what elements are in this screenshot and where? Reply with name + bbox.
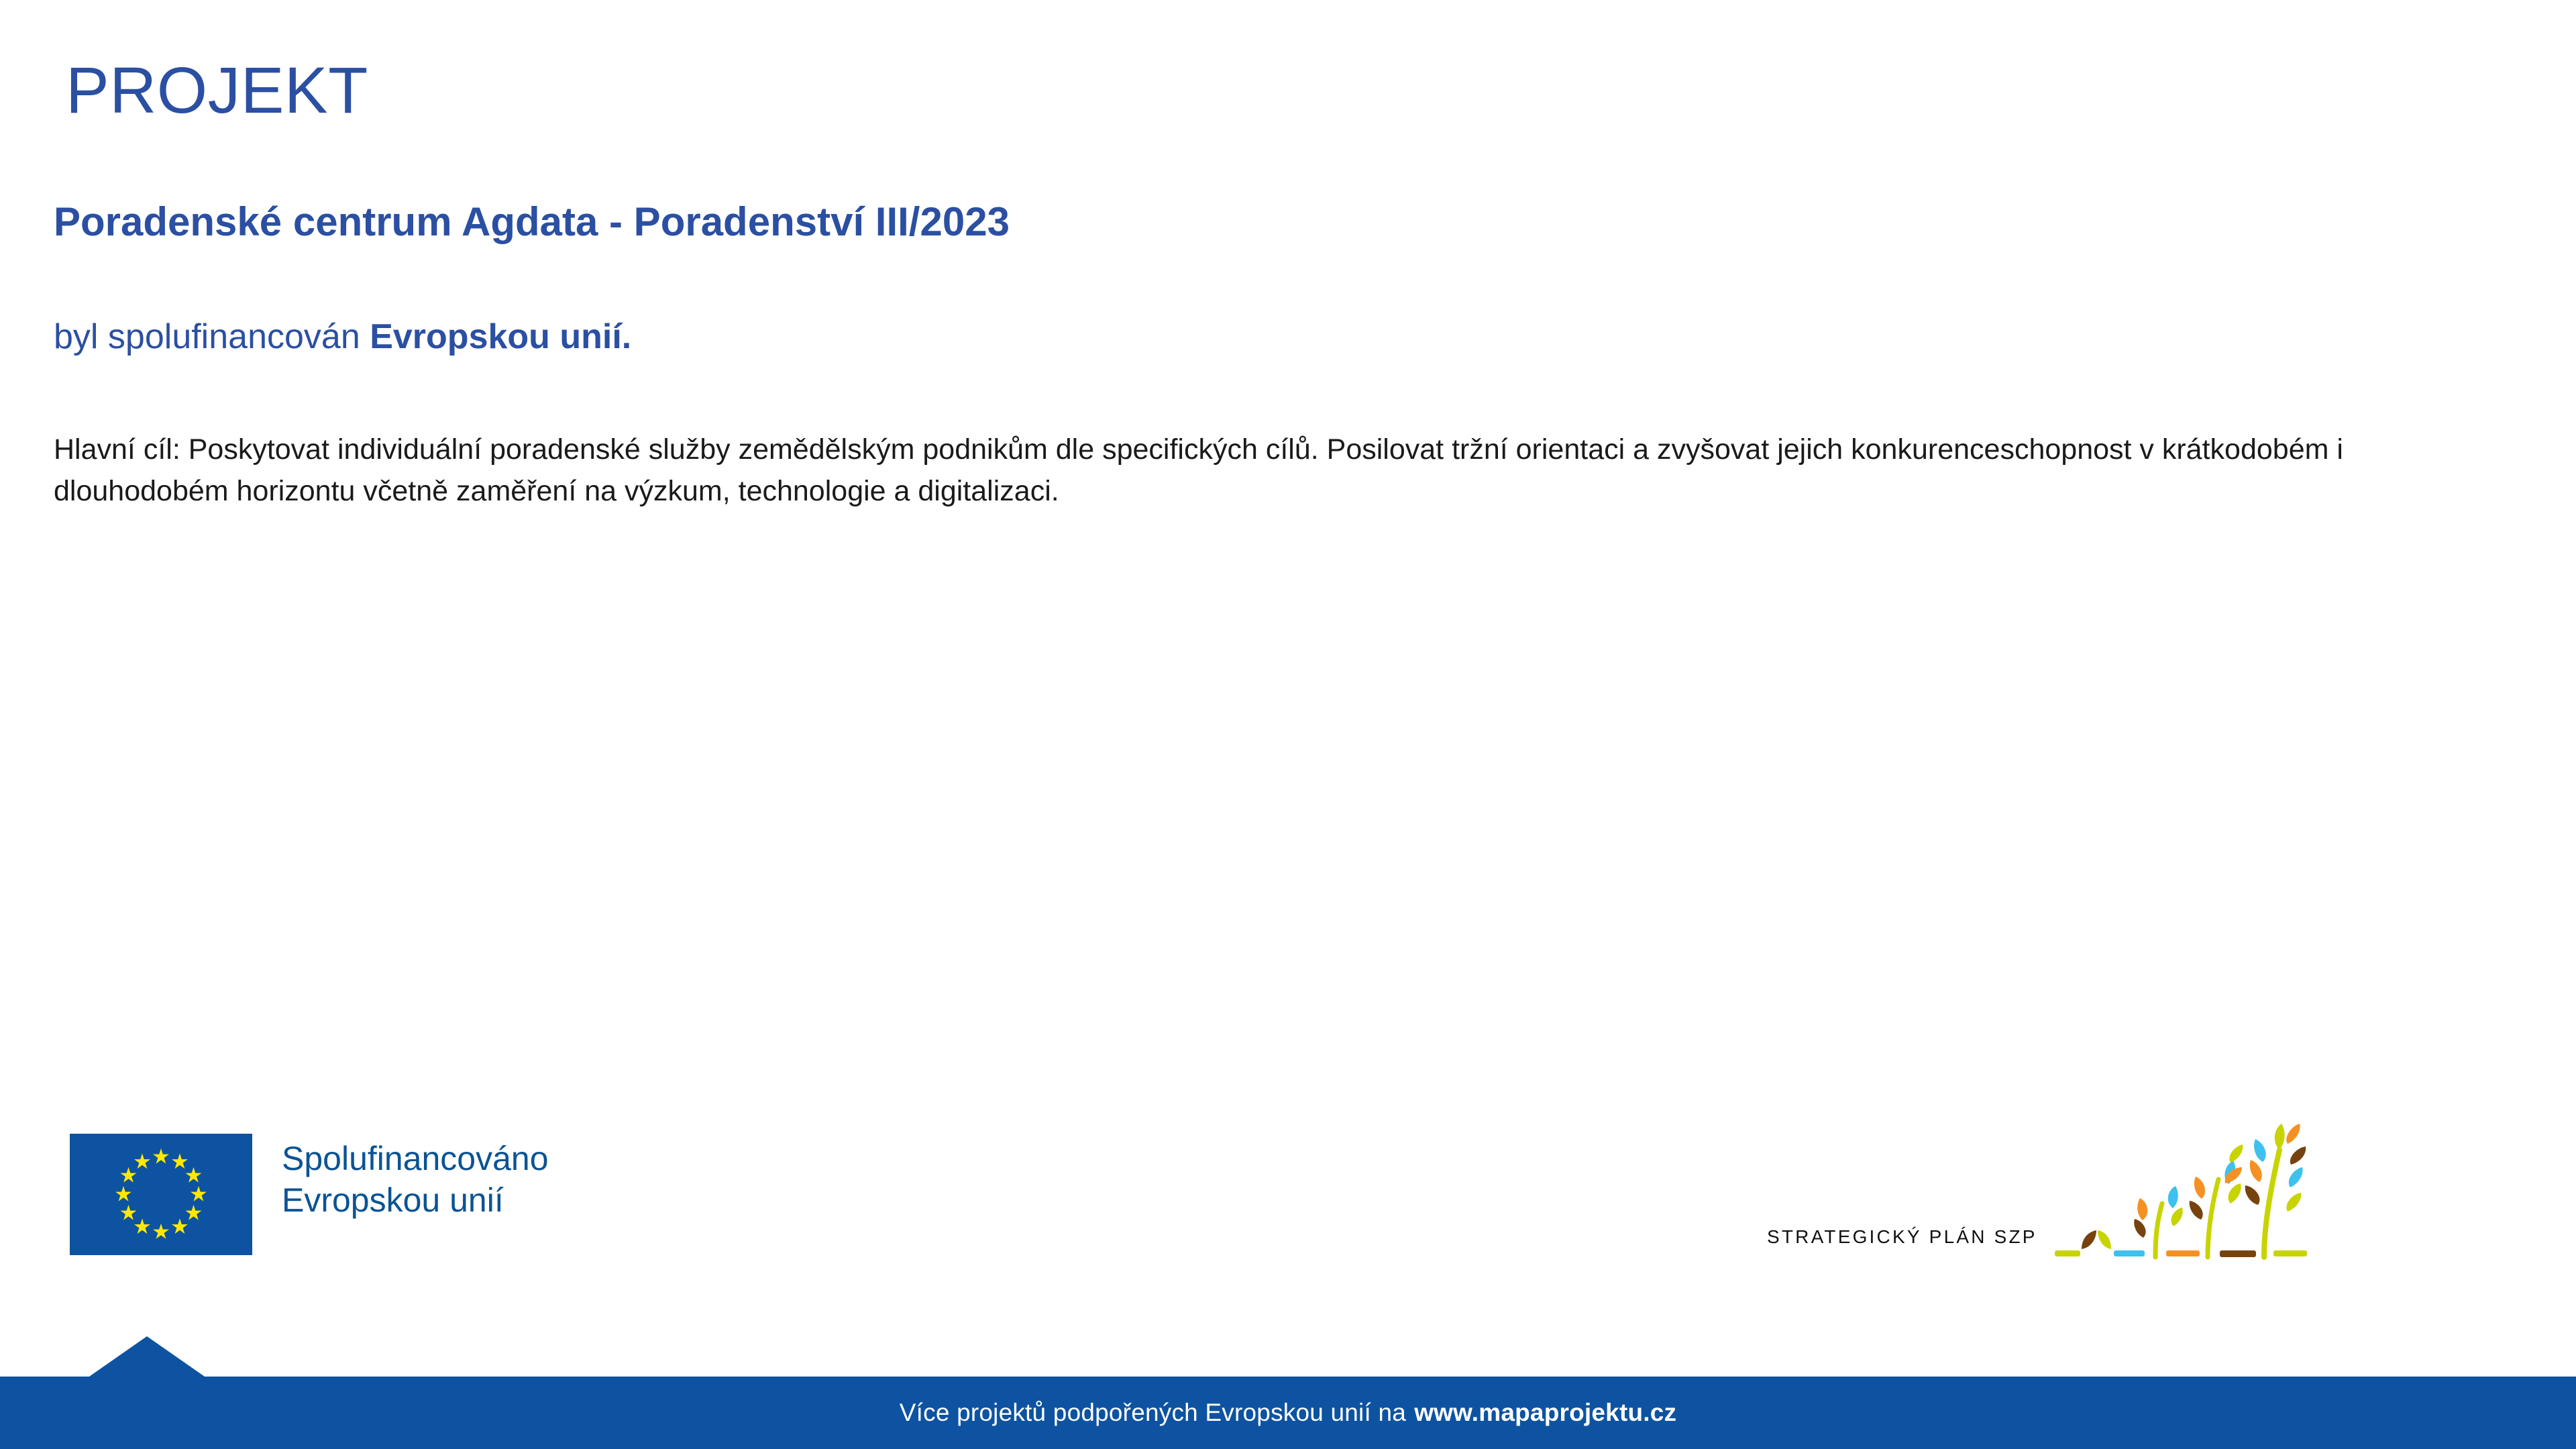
szp-plant-4 — [2245, 1124, 2306, 1257]
page-kicker: PROJEKT — [66, 58, 368, 123]
footer-website-link[interactable]: www.mapaprojektu.cz — [1414, 1399, 1676, 1427]
eu-wordmark-line-2: Evropskou unií — [282, 1179, 549, 1221]
slide-canvas: PROJEKT Poradenské centrum Agdata - Pora… — [0, 0, 2576, 1449]
szp-strategic-plan-logo: STRATEGICKÝ PLÁN SZP — [1767, 1120, 2350, 1275]
szp-plant-2 — [2134, 1186, 2183, 1257]
subtitle-bold-part: Evropskou unií. — [370, 317, 631, 356]
subtitle-normal-part: byl spolufinancován — [54, 317, 370, 356]
szp-plant-1 — [2082, 1230, 2111, 1249]
footer-notch-triangle — [89, 1336, 205, 1377]
szp-ground-dashes — [2055, 1250, 2307, 1257]
page-title: Poradenské centrum Agdata - Poradenství … — [54, 199, 1010, 245]
footer-text-normal: Více projektů podpořených Evropskou unií… — [900, 1399, 1406, 1427]
footer-bar: Více projektů podpořených Evropskou unií… — [0, 1377, 2576, 1449]
szp-label: STRATEGICKÝ PLÁN SZP — [1767, 1226, 2037, 1275]
subtitle: byl spolufinancován Evropskou unií. — [54, 317, 631, 358]
body-paragraph: Hlavní cíl: Poskytovat individuální pora… — [54, 429, 2482, 512]
eu-cofunding-logo: Spolufinancováno Evropskou unií — [70, 1134, 549, 1255]
eu-flag-icon — [70, 1134, 252, 1255]
eu-wordmark: Spolufinancováno Evropskou unií — [282, 1134, 549, 1221]
eu-stars-icon — [70, 1134, 252, 1255]
footer-text: Více projektů podpořených Evropskou unií… — [0, 1377, 2576, 1449]
szp-wheat-plants-icon — [2055, 1120, 2350, 1275]
szp-plant-3 — [2189, 1144, 2243, 1257]
eu-wordmark-line-1: Spolufinancováno — [282, 1138, 549, 1179]
